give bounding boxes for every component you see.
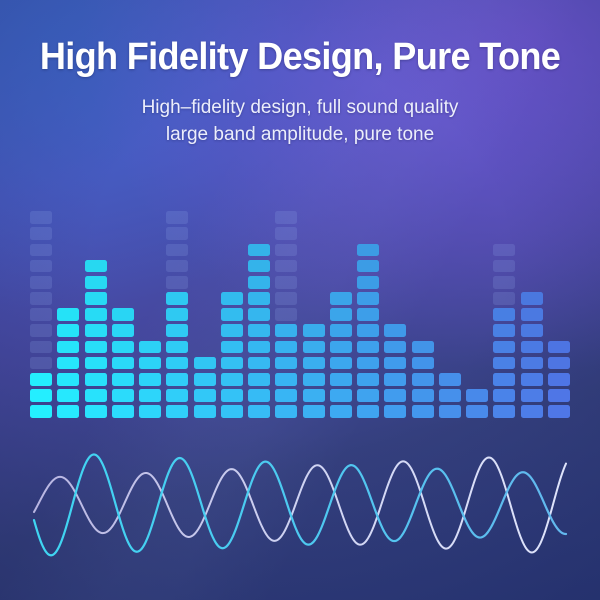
equalizer-segment-empty (466, 211, 488, 224)
equalizer-segment-lit (357, 405, 379, 418)
equalizer-segment-lit (248, 276, 270, 289)
equalizer-bar (57, 216, 79, 418)
equalizer-segment-lit (112, 308, 134, 321)
waveform-graphic (0, 424, 600, 582)
equalizer-segment-empty (521, 276, 543, 289)
equalizer-segment-lit (248, 324, 270, 337)
equalizer-segment-lit (166, 324, 188, 337)
equalizer-segment-lit (139, 405, 161, 418)
equalizer-segment-empty (548, 244, 570, 257)
equalizer-segment-lit (357, 373, 379, 386)
equalizer-segment-empty (139, 292, 161, 305)
equalizer-segment-unlit (166, 260, 188, 273)
equalizer-segment-lit (357, 276, 379, 289)
equalizer-segment-lit (466, 389, 488, 402)
equalizer-segment-empty (466, 276, 488, 289)
equalizer-segment-lit (521, 341, 543, 354)
equalizer-segment-empty (194, 276, 216, 289)
equalizer-segment-empty (548, 211, 570, 224)
equalizer-segment-lit (194, 389, 216, 402)
equalizer-segment-lit (412, 389, 434, 402)
equalizer-segment-lit (330, 324, 352, 337)
equalizer-segment-lit (221, 373, 243, 386)
equalizer-segment-empty (412, 308, 434, 321)
equalizer-segment-lit (466, 405, 488, 418)
equalizer-segment-lit (521, 308, 543, 321)
equalizer-segment-empty (412, 324, 434, 337)
equalizer-segment-empty (330, 276, 352, 289)
equalizer-segment-lit (85, 405, 107, 418)
equalizer-segment-lit (221, 308, 243, 321)
equalizer-bar (30, 216, 52, 418)
equalizer-segment-lit (85, 341, 107, 354)
equalizer-segment-lit (221, 357, 243, 370)
equalizer-segment-empty (221, 276, 243, 289)
equalizer-segment-lit (439, 405, 461, 418)
equalizer-segment-lit (357, 308, 379, 321)
equalizer-segment-lit (330, 292, 352, 305)
equalizer-segment-lit (275, 405, 297, 418)
equalizer-segment-empty (57, 260, 79, 273)
equalizer-segment-lit (85, 389, 107, 402)
equalizer-segment-empty (466, 341, 488, 354)
equalizer-segment-lit (248, 260, 270, 273)
equalizer-segment-empty (330, 244, 352, 257)
product-banner: High Fidelity Design, Pure Tone High–fid… (0, 0, 600, 600)
equalizer-segment-lit (357, 389, 379, 402)
equalizer-segment-unlit (493, 244, 515, 257)
equalizer-segment-lit (112, 389, 134, 402)
equalizer-segment-lit (275, 324, 297, 337)
equalizer-segment-empty (221, 244, 243, 257)
equalizer-segment-empty (439, 211, 461, 224)
equalizer-bar (466, 216, 488, 418)
equalizer-segment-unlit (30, 324, 52, 337)
equalizer-segment-lit (139, 341, 161, 354)
equalizer-bar (139, 216, 161, 418)
equalizer-segment-lit (30, 389, 52, 402)
equalizer-segment-empty (194, 227, 216, 240)
equalizer-segment-lit (194, 373, 216, 386)
equalizer-segment-lit (357, 244, 379, 257)
equalizer-segment-unlit (166, 276, 188, 289)
equalizer-segment-empty (57, 211, 79, 224)
equalizer-segment-unlit (275, 211, 297, 224)
equalizer-segment-empty (303, 260, 325, 273)
equalizer-segment-lit (303, 324, 325, 337)
equalizer-segment-lit (384, 389, 406, 402)
equalizer-segment-lit (357, 341, 379, 354)
equalizer-segment-lit (493, 341, 515, 354)
equalizer-bar (493, 216, 515, 418)
equalizer-segment-empty (548, 324, 570, 337)
equalizer-segment-empty (357, 227, 379, 240)
equalizer-segment-lit (548, 405, 570, 418)
equalizer-segment-unlit (493, 292, 515, 305)
equalizer-segment-empty (412, 292, 434, 305)
page-subtitle: High–fidelity design, full sound quality… (0, 94, 600, 149)
equalizer-segment-unlit (275, 276, 297, 289)
equalizer-segment-lit (521, 405, 543, 418)
equalizer-segment-lit (139, 373, 161, 386)
equalizer-bar (412, 216, 434, 418)
equalizer-segment-empty (412, 244, 434, 257)
equalizer-segment-empty (194, 324, 216, 337)
equalizer-segment-empty (384, 244, 406, 257)
equalizer-segment-lit (412, 341, 434, 354)
equalizer-segment-lit (548, 357, 570, 370)
equalizer-segment-unlit (275, 260, 297, 273)
equalizer-segment-lit (112, 324, 134, 337)
equalizer-segment-empty (384, 276, 406, 289)
equalizer-segment-unlit (166, 227, 188, 240)
equalizer-segment-lit (330, 389, 352, 402)
equalizer-segment-lit (57, 308, 79, 321)
equalizer-segment-lit (248, 244, 270, 257)
equalizer-segment-lit (85, 292, 107, 305)
equalizer-segment-empty (57, 276, 79, 289)
equalizer-segment-empty (466, 227, 488, 240)
equalizer-bar (384, 216, 406, 418)
equalizer-segment-empty (194, 308, 216, 321)
equalizer-segment-lit (548, 389, 570, 402)
equalizer-segment-empty (439, 244, 461, 257)
equalizer-segment-empty (439, 292, 461, 305)
equalizer-segment-empty (357, 211, 379, 224)
equalizer-segment-empty (466, 308, 488, 321)
equalizer-segment-empty (439, 260, 461, 273)
equalizer-segment-lit (330, 308, 352, 321)
page-title: High Fidelity Design, Pure Tone (15, 38, 585, 78)
equalizer-segment-lit (112, 405, 134, 418)
equalizer-segment-empty (384, 292, 406, 305)
equalizer-segment-empty (139, 244, 161, 257)
equalizer-segment-empty (439, 341, 461, 354)
equalizer-segment-unlit (30, 260, 52, 273)
equalizer-segment-unlit (493, 276, 515, 289)
equalizer-segment-lit (221, 405, 243, 418)
equalizer-segment-empty (521, 260, 543, 273)
equalizer-segment-lit (85, 324, 107, 337)
equalizer-segment-empty (139, 260, 161, 273)
equalizer-segment-empty (548, 260, 570, 273)
equalizer-segment-empty (194, 260, 216, 273)
equalizer-segment-unlit (166, 211, 188, 224)
equalizer-segment-lit (194, 405, 216, 418)
equalizer-segment-lit (493, 405, 515, 418)
equalizer-segment-empty (412, 227, 434, 240)
equalizer-segment-empty (548, 227, 570, 240)
equalizer-segment-empty (248, 211, 270, 224)
equalizer-segment-empty (466, 244, 488, 257)
equalizer-segment-empty (412, 260, 434, 273)
equalizer-bar (303, 216, 325, 418)
equalizer-segment-unlit (275, 292, 297, 305)
equalizer-segment-lit (357, 292, 379, 305)
equalizer-segment-lit (548, 341, 570, 354)
equalizer-segment-lit (248, 389, 270, 402)
equalizer-segment-empty (194, 341, 216, 354)
equalizer-segment-lit (412, 357, 434, 370)
equalizer-segment-empty (330, 227, 352, 240)
equalizer-segment-lit (221, 292, 243, 305)
equalizer-bar (439, 216, 461, 418)
equalizer-segment-lit (303, 357, 325, 370)
equalizer-segment-lit (384, 405, 406, 418)
equalizer-segment-lit (166, 292, 188, 305)
equalizer-segment-empty (548, 276, 570, 289)
equalizer-segment-lit (57, 357, 79, 370)
equalizer-segment-lit (57, 405, 79, 418)
equalizer-segment-lit (275, 357, 297, 370)
equalizer-segment-empty (466, 292, 488, 305)
equalizer-segment-lit (384, 357, 406, 370)
equalizer-segment-lit (384, 324, 406, 337)
equalizer-segment-empty (521, 211, 543, 224)
equalizer-segment-empty (194, 211, 216, 224)
equalizer-segment-unlit (275, 244, 297, 257)
equalizer-segment-lit (166, 405, 188, 418)
equalizer-segment-lit (57, 341, 79, 354)
equalizer-segment-unlit (30, 227, 52, 240)
equalizer-segment-lit (248, 373, 270, 386)
equalizer-segment-empty (112, 276, 134, 289)
equalizer-segment-empty (466, 373, 488, 386)
equalizer-segment-unlit (166, 244, 188, 257)
equalizer-segment-lit (384, 373, 406, 386)
equalizer-segment-lit (439, 373, 461, 386)
headline-block: High Fidelity Design, Pure Tone High–fid… (0, 38, 600, 149)
equalizer-segment-empty (85, 211, 107, 224)
equalizer-segment-lit (548, 373, 570, 386)
equalizer-segment-lit (330, 373, 352, 386)
equalizer-segment-lit (275, 373, 297, 386)
equalizer-segment-empty (303, 292, 325, 305)
equalizer-segment-lit (493, 389, 515, 402)
equalizer-segment-empty (493, 227, 515, 240)
equalizer-segment-empty (439, 227, 461, 240)
equalizer-bar (330, 216, 352, 418)
equalizer-segment-unlit (493, 260, 515, 273)
equalizer-bar (275, 216, 297, 418)
equalizer-segment-lit (357, 357, 379, 370)
equalizer-bar (221, 216, 243, 418)
equalizer-segment-empty (384, 211, 406, 224)
equalizer-segment-empty (548, 308, 570, 321)
equalizer-segment-empty (303, 227, 325, 240)
equalizer-segment-lit (303, 373, 325, 386)
equalizer-segment-lit (330, 357, 352, 370)
equalizer-segment-unlit (30, 357, 52, 370)
subtitle-line-1: High–fidelity design, full sound quality (142, 97, 459, 118)
equalizer-segment-lit (412, 373, 434, 386)
equalizer-segment-lit (248, 341, 270, 354)
equalizer-segment-unlit (30, 276, 52, 289)
equalizer-segment-lit (330, 341, 352, 354)
equalizer-segment-lit (166, 373, 188, 386)
equalizer-bar (85, 216, 107, 418)
equalizer-segment-lit (57, 324, 79, 337)
equalizer-segment-empty (85, 227, 107, 240)
equalizer-segment-empty (221, 211, 243, 224)
equalizer-segment-lit (521, 389, 543, 402)
equalizer-segment-empty (194, 244, 216, 257)
equalizer-segment-lit (166, 308, 188, 321)
equalizer-segment-lit (166, 341, 188, 354)
equalizer-segment-lit (303, 405, 325, 418)
equalizer-segment-lit (57, 389, 79, 402)
equalizer-segment-lit (112, 357, 134, 370)
equalizer-segment-empty (384, 260, 406, 273)
equalizer-segment-empty (303, 211, 325, 224)
equalizer-segment-lit (493, 357, 515, 370)
equalizer-segment-unlit (30, 308, 52, 321)
equalizer-segment-lit (439, 389, 461, 402)
equalizer-segment-empty (139, 324, 161, 337)
equalizer-segment-lit (139, 389, 161, 402)
equalizer-segment-empty (412, 211, 434, 224)
equalizer-segment-lit (112, 341, 134, 354)
equalizer-segment-unlit (30, 341, 52, 354)
equalizer-segment-empty (139, 227, 161, 240)
equalizer-bar (548, 216, 570, 418)
equalizer-segment-lit (357, 260, 379, 273)
equalizer-segment-lit (493, 373, 515, 386)
equalizer-segment-empty (412, 276, 434, 289)
equalizer-segment-empty (139, 308, 161, 321)
equalizer-segment-empty (384, 308, 406, 321)
equalizer-segment-lit (330, 405, 352, 418)
equalizer-segment-lit (85, 357, 107, 370)
equalizer-segment-empty (112, 211, 134, 224)
equalizer-segment-empty (493, 211, 515, 224)
equalizer-segment-empty (521, 227, 543, 240)
equalizer-segment-empty (85, 244, 107, 257)
equalizer-bar (194, 216, 216, 418)
equalizer-segment-lit (248, 292, 270, 305)
equalizer-segment-lit (139, 357, 161, 370)
equalizer-segment-lit (194, 357, 216, 370)
equalizer-segment-lit (521, 373, 543, 386)
equalizer-segment-lit (275, 341, 297, 354)
equalizer-bar (166, 216, 188, 418)
equalizer-segment-empty (303, 276, 325, 289)
equalizer-segment-empty (439, 276, 461, 289)
equalizer-segment-lit (221, 389, 243, 402)
equalizer-segment-lit (521, 357, 543, 370)
equalizer-segment-empty (221, 260, 243, 273)
equalizer-segment-lit (30, 373, 52, 386)
equalizer-segment-empty (384, 227, 406, 240)
equalizer-segment-lit (221, 324, 243, 337)
equalizer-segment-empty (303, 308, 325, 321)
equalizer-segment-lit (248, 405, 270, 418)
equalizer-segment-lit (85, 260, 107, 273)
equalizer-segment-empty (466, 357, 488, 370)
equalizer-segment-empty (439, 308, 461, 321)
equalizer-segment-empty (303, 244, 325, 257)
equalizer-segment-empty (548, 292, 570, 305)
equalizer-segment-lit (57, 373, 79, 386)
equalizer-segment-empty (112, 227, 134, 240)
equalizer-segment-lit (166, 357, 188, 370)
equalizer-segment-lit (521, 292, 543, 305)
equalizer-segment-lit (85, 276, 107, 289)
equalizer-segment-empty (466, 324, 488, 337)
equalizer-bar (248, 216, 270, 418)
equalizer-segment-empty (439, 324, 461, 337)
equalizer-segment-lit (112, 373, 134, 386)
equalizer-segment-empty (221, 227, 243, 240)
equalizer-segment-lit (248, 308, 270, 321)
equalizer-segment-lit (85, 308, 107, 321)
equalizer-segment-lit (303, 341, 325, 354)
equalizer-segment-lit (221, 341, 243, 354)
equalizer-segment-empty (57, 227, 79, 240)
equalizer-segment-empty (112, 244, 134, 257)
equalizer-graphic (30, 216, 570, 418)
equalizer-segment-lit (275, 389, 297, 402)
equalizer-segment-empty (439, 357, 461, 370)
equalizer-segment-lit (248, 357, 270, 370)
equalizer-segment-empty (330, 260, 352, 273)
equalizer-segment-empty (57, 292, 79, 305)
equalizer-segment-unlit (275, 227, 297, 240)
equalizer-segment-unlit (30, 292, 52, 305)
equalizer-segment-empty (521, 244, 543, 257)
equalizer-segment-empty (57, 244, 79, 257)
equalizer-segment-lit (166, 389, 188, 402)
equalizer-segment-lit (85, 373, 107, 386)
subtitle-line-2: large band amplitude, pure tone (166, 124, 434, 145)
equalizer-segment-unlit (30, 244, 52, 257)
equalizer-segment-empty (112, 292, 134, 305)
equalizer-segment-lit (30, 405, 52, 418)
equalizer-segment-lit (303, 389, 325, 402)
equalizer-bar (521, 216, 543, 418)
equalizer-segment-lit (412, 405, 434, 418)
equalizer-segment-empty (139, 276, 161, 289)
equalizer-segment-lit (521, 324, 543, 337)
equalizer-segment-empty (112, 260, 134, 273)
equalizer-segment-empty (194, 292, 216, 305)
equalizer-bar (357, 216, 379, 418)
equalizer-segment-unlit (30, 211, 52, 224)
equalizer-segment-empty (330, 211, 352, 224)
equalizer-segment-empty (139, 211, 161, 224)
equalizer-segment-lit (357, 324, 379, 337)
equalizer-segment-lit (493, 308, 515, 321)
equalizer-bar (112, 216, 134, 418)
equalizer-segment-empty (466, 260, 488, 273)
equalizer-segment-lit (493, 324, 515, 337)
equalizer-segment-unlit (275, 308, 297, 321)
equalizer-segment-lit (384, 341, 406, 354)
equalizer-segment-empty (248, 227, 270, 240)
